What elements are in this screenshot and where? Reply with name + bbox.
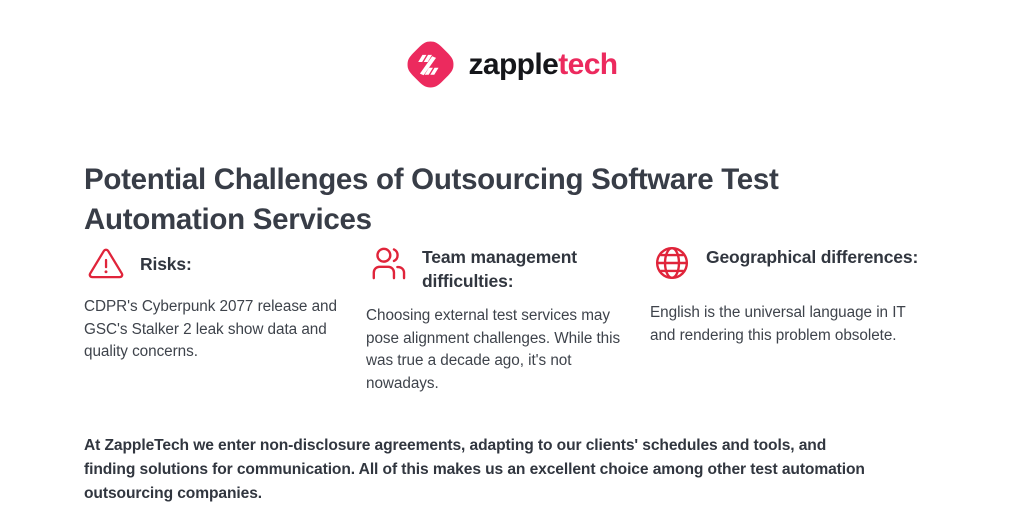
- column-header: Team management difficulties:: [366, 240, 632, 293]
- column-title: Team management difficulties:: [422, 240, 632, 293]
- column-body: English is the universal language in IT …: [650, 302, 922, 347]
- challenge-column-team-management: Team management difficulties: Choosing e…: [366, 240, 650, 395]
- globe-icon: [650, 241, 694, 285]
- logo-wordmark: zappletech: [468, 50, 617, 80]
- logo-wordmark-part1: zapple: [468, 48, 558, 81]
- column-title: Geographical differences:: [706, 240, 918, 269]
- column-header: Risks:: [84, 240, 348, 290]
- brand-logo: zappletech: [0, 40, 1024, 89]
- challenge-columns: Risks: CDPR's Cyberpunk 2077 release and…: [84, 240, 940, 395]
- slide-canvas: zappletech Potential Challenges of Outso…: [0, 0, 1024, 521]
- zappletech-percent-diamond-logo-icon: [406, 40, 455, 89]
- challenge-column-geographical: Geographical differences: English is the…: [650, 240, 940, 395]
- column-header: Geographical differences:: [650, 240, 922, 290]
- column-title: Risks:: [140, 240, 192, 276]
- closing-paragraph: At ZappleTech we enter non-disclosure ag…: [84, 434, 874, 506]
- column-body: Choosing external test services may pose…: [366, 305, 632, 395]
- logo-lockup: zappletech: [406, 40, 617, 89]
- page-title: Potential Challenges of Outsourcing Soft…: [84, 160, 804, 240]
- logo-wordmark-part2: tech: [558, 48, 617, 81]
- warning-triangle-icon: [84, 241, 128, 285]
- people-group-icon: [366, 241, 410, 285]
- column-body: CDPR's Cyberpunk 2077 release and GSC's …: [84, 296, 348, 364]
- challenge-column-risks: Risks: CDPR's Cyberpunk 2077 release and…: [84, 240, 366, 395]
